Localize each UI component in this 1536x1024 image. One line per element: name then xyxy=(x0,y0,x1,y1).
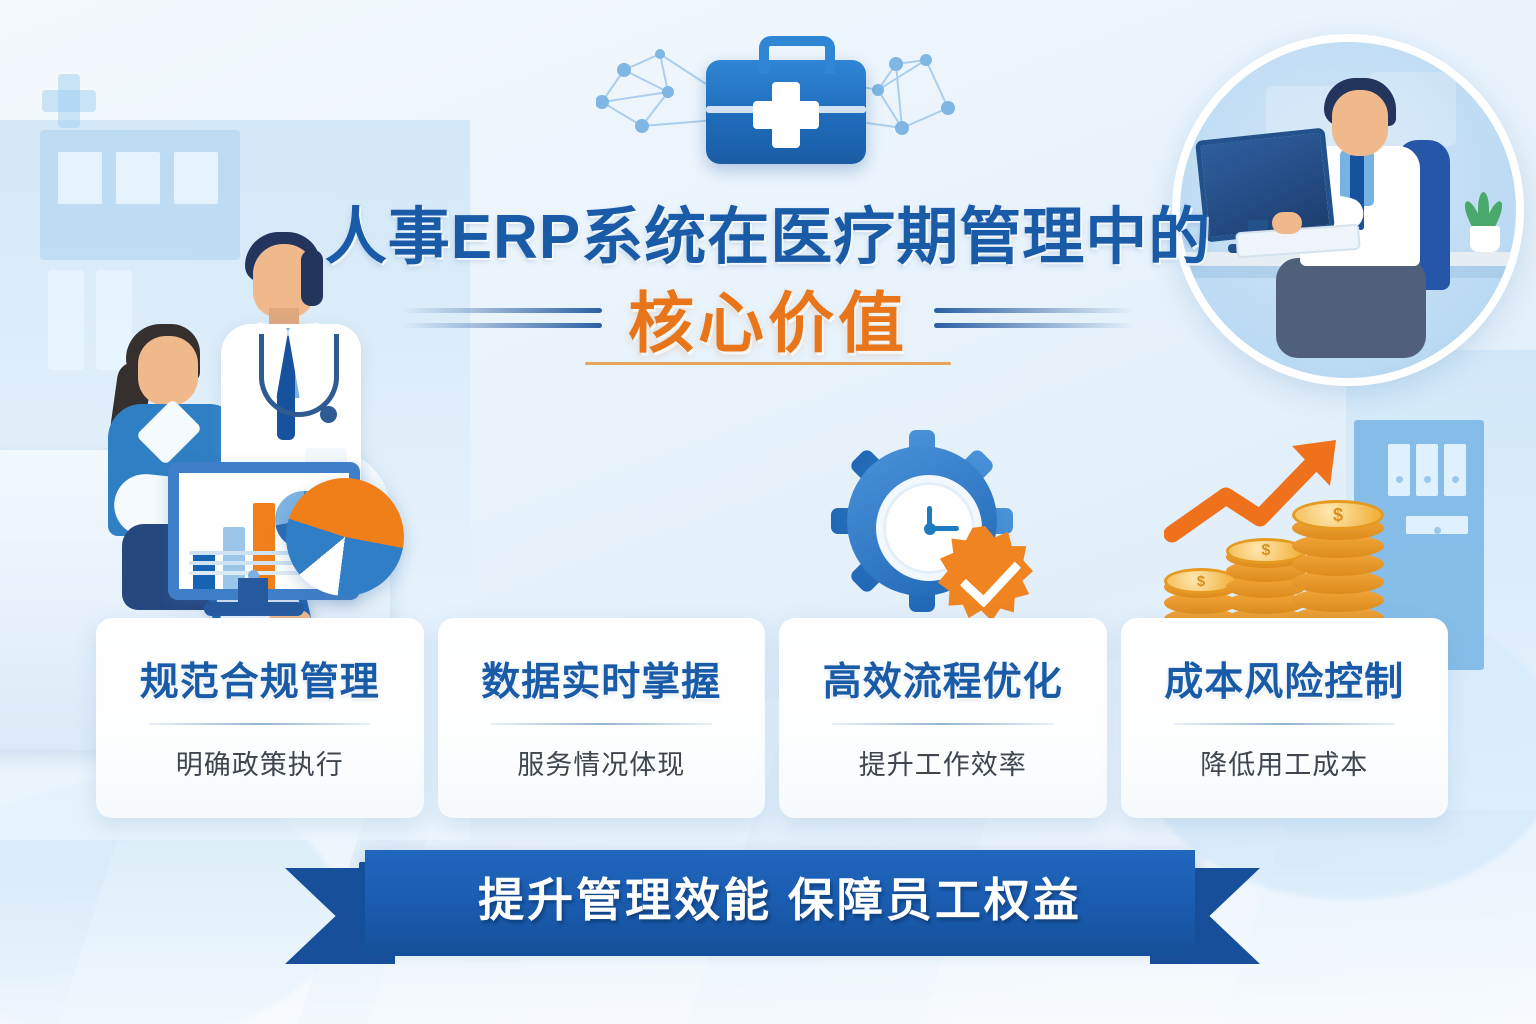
kit-handle xyxy=(759,36,835,74)
card-subtitle: 降低用工成本 xyxy=(1200,743,1368,782)
chart-pie-large xyxy=(286,478,404,596)
title-dash-left xyxy=(402,308,602,328)
infographic-poster: 人事ERP系统在医疗期管理中的 核心价值 xyxy=(0,0,1536,1024)
card-title: 数据实时掌握 xyxy=(481,651,721,707)
feature-icon-slot-1 xyxy=(96,420,434,630)
card-title: 规范合规管理 xyxy=(140,651,380,707)
gear-clock-check-icon xyxy=(841,440,1041,630)
card-title: 成本风险控制 xyxy=(1164,651,1404,707)
card-title: 高效流程优化 xyxy=(823,651,1063,707)
card-subtitle: 明确政策执行 xyxy=(176,743,344,782)
coin-top: $ xyxy=(1292,500,1384,530)
ribbon-text: 提升管理效能 保障员工权益 xyxy=(478,864,1082,930)
chart-bar xyxy=(193,551,215,589)
card-divider xyxy=(491,723,712,725)
feature-card-1[interactable]: 规范合规管理 明确政策执行 xyxy=(96,618,424,818)
feature-icons-row: $ $ $ xyxy=(96,420,1448,630)
bottom-ribbon: 提升管理效能 保障员工权益 xyxy=(285,844,1260,974)
doctor-head xyxy=(1332,90,1388,156)
card-divider xyxy=(832,723,1053,725)
wall-cross-icon-bar xyxy=(42,90,96,112)
feature-card-2[interactable]: 数据实时掌握 服务情况体现 xyxy=(438,618,766,818)
page-title: 人事ERP系统在医疗期管理中的 xyxy=(0,186,1536,276)
ribbon-banner: 提升管理效能 保障员工权益 xyxy=(365,850,1195,944)
dashboard-chart-icon xyxy=(160,450,370,630)
monitor-base xyxy=(204,602,304,616)
feature-icon-slot-3 xyxy=(772,420,1110,630)
kit-cross-horizontal xyxy=(753,101,819,129)
title-dash-right xyxy=(934,308,1134,328)
feature-card-4[interactable]: 成本风险控制 降低用工成本 xyxy=(1121,618,1449,818)
card-subtitle: 提升工作效率 xyxy=(859,743,1027,782)
medical-kit-header xyxy=(596,24,976,174)
feature-card-3[interactable]: 高效流程优化 提升工作效率 xyxy=(779,618,1107,818)
subtitle-underline xyxy=(585,362,951,365)
monitor-stand xyxy=(238,578,268,604)
page-subtitle: 核心价值 xyxy=(628,270,908,366)
coin-stack-large: $ xyxy=(1292,500,1384,630)
card-divider xyxy=(1174,723,1395,725)
coins-growth-icon: $ $ $ xyxy=(1164,440,1394,630)
subtitle-row: 核心价值 xyxy=(0,272,1536,364)
card-subtitle: 服务情况体现 xyxy=(517,743,685,782)
medical-kit-icon xyxy=(706,60,866,164)
feature-cards: 规范合规管理 明确政策执行 数据实时掌握 服务情况体现 高效流程优化 提升工作效… xyxy=(96,618,1448,818)
card-divider xyxy=(149,723,370,725)
feature-icon-slot-4: $ $ $ xyxy=(1110,420,1448,630)
check-badge-icon xyxy=(937,526,1033,622)
clock-center-pin xyxy=(924,523,936,535)
